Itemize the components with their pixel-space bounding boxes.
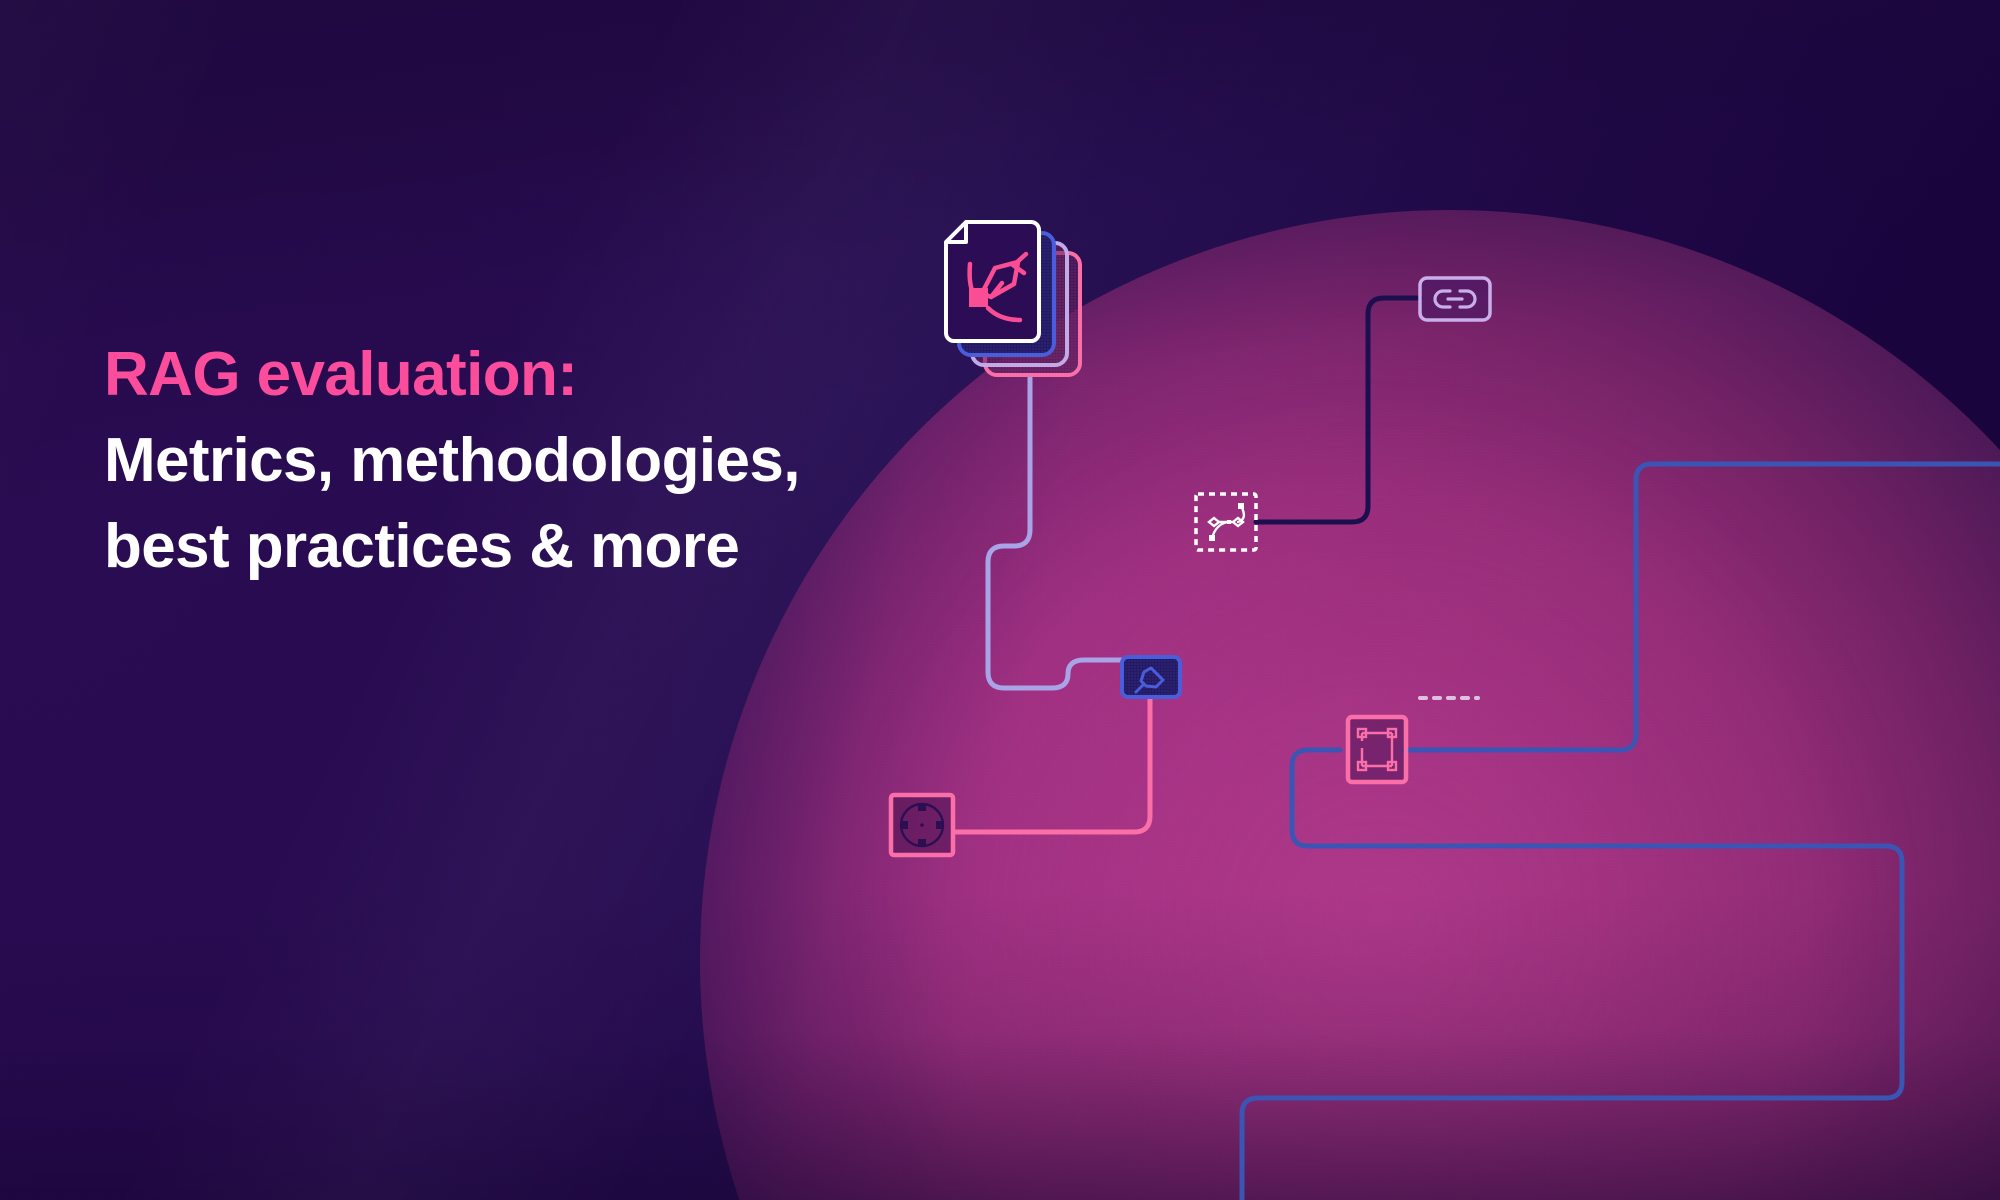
connector-selection-bottom bbox=[1242, 750, 1902, 1200]
node-diagram bbox=[0, 0, 2000, 1200]
rotate-handles-icon bbox=[900, 803, 944, 847]
link-node[interactable] bbox=[1420, 278, 1490, 320]
bezier-curve-icon bbox=[1209, 503, 1244, 541]
selection-node-frame bbox=[1348, 717, 1406, 782]
document-front-sheet bbox=[946, 222, 1039, 341]
transform-node[interactable] bbox=[891, 795, 953, 855]
connector-pin-to-transform bbox=[954, 694, 1150, 832]
headline-line-2: Metrics, methodologies, bbox=[104, 418, 984, 504]
bezier-node[interactable] bbox=[1196, 494, 1256, 550]
pin-node[interactable] bbox=[1122, 657, 1180, 697]
banner-root: RAG evaluation: Metrics, methodologies, … bbox=[0, 0, 2000, 1200]
pin-node-frame bbox=[1122, 657, 1180, 697]
connector-doc-to-pin bbox=[988, 378, 1122, 688]
headline: RAG evaluation: Metrics, methodologies, … bbox=[104, 332, 984, 590]
selection-node[interactable] bbox=[1348, 717, 1406, 782]
headline-line-1: RAG evaluation: bbox=[104, 332, 984, 418]
connector-selection-right bbox=[1404, 464, 2000, 750]
headline-line-3: best practices & more bbox=[104, 504, 984, 590]
connector-bezier-to-link bbox=[1256, 298, 1420, 522]
